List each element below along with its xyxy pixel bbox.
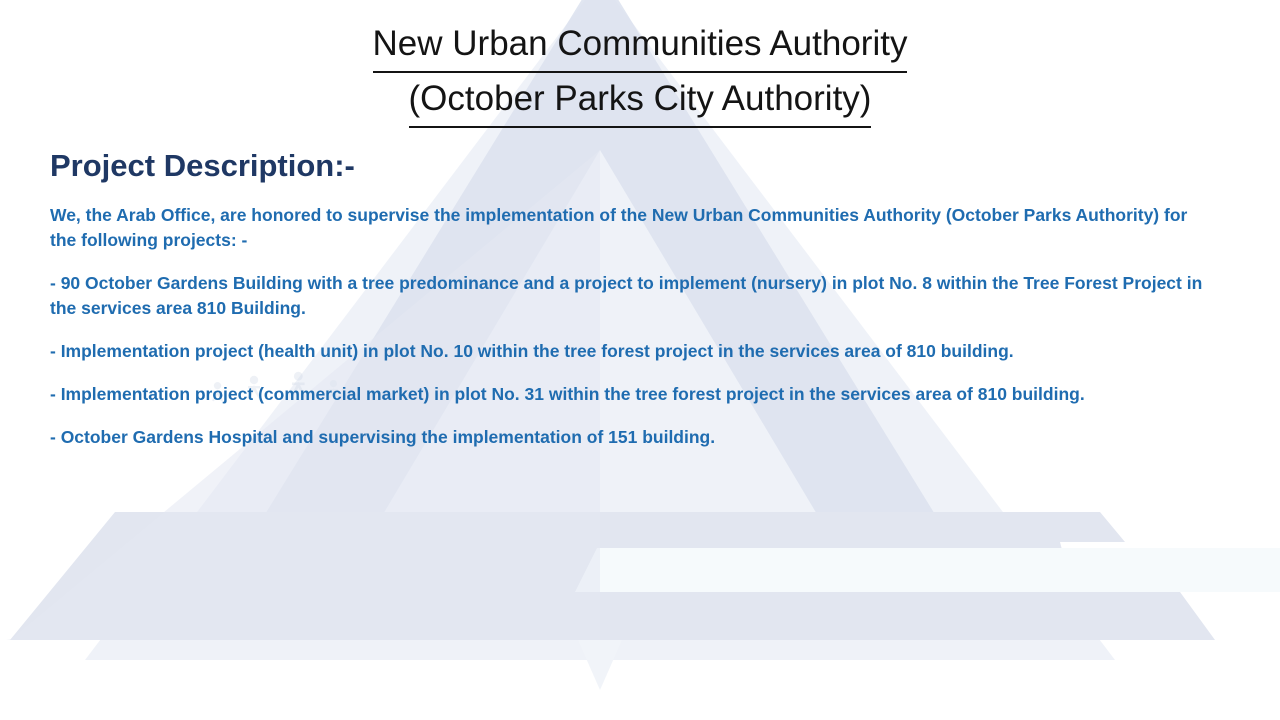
paragraph-commercial-market: - Implementation project (commercial mar… <box>50 382 1220 407</box>
slide-content: New Urban Communities Authority (October… <box>0 0 1280 720</box>
body-text-block: We, the Arab Office, are honored to supe… <box>50 203 1220 450</box>
slide-canvas: New Urban Communities Authority (October… <box>0 0 1280 720</box>
slide-title: New Urban Communities Authority (October… <box>0 18 1280 128</box>
paragraph-health-unit: - Implementation project (health unit) i… <box>50 339 1188 364</box>
title-line-2: (October Parks City Authority) <box>409 73 872 128</box>
paragraph-intro: We, the Arab Office, are honored to supe… <box>50 203 1218 253</box>
title-line-1: New Urban Communities Authority <box>373 18 908 73</box>
paragraph-october-gardens-building: - 90 October Gardens Building with a tre… <box>50 271 1220 321</box>
section-heading-project-description: Project Description:- <box>50 146 355 186</box>
paragraph-hospital: - October Gardens Hospital and supervisi… <box>50 425 950 450</box>
